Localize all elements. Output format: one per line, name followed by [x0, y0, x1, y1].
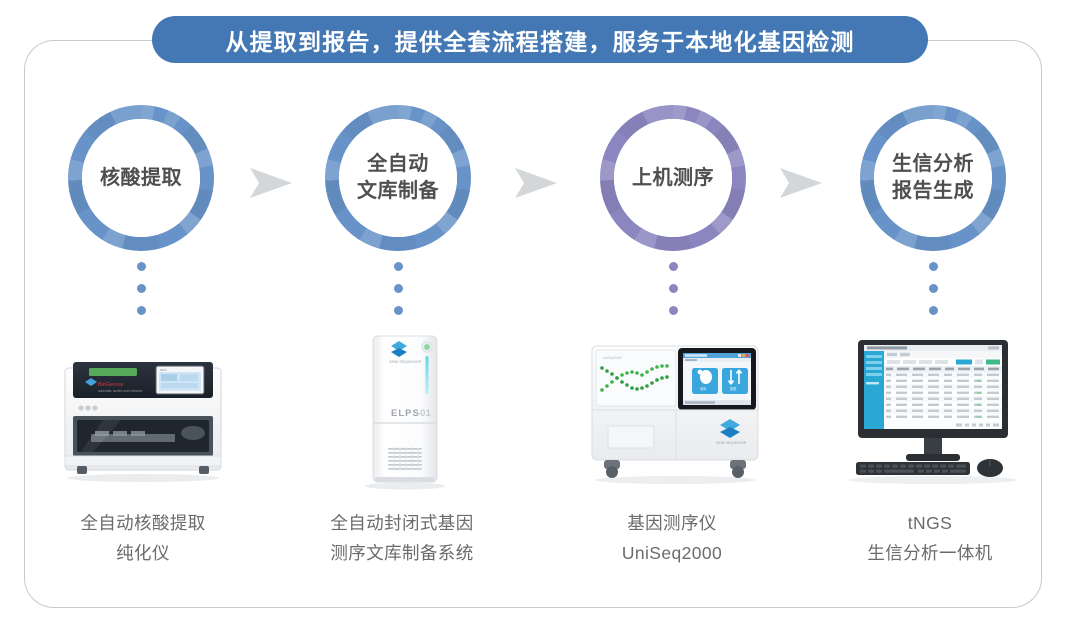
- desktop-workstation-icon: [828, 330, 1038, 490]
- svg-text:ELPS: ELPS: [391, 408, 420, 419]
- dot: [669, 306, 678, 315]
- step-circle-sequencing: 上机测序: [600, 105, 746, 251]
- connector-dots-extraction: [68, 262, 214, 315]
- step-circle-extraction: 核酸提取: [68, 105, 214, 251]
- svg-text:automatic nucleic acid extract: automatic nucleic acid extractor: [98, 389, 144, 393]
- caption-line-1: 全自动封闭式基因: [282, 508, 522, 538]
- arrow-right-icon: [778, 163, 824, 203]
- title-banner: 从提取到报告，提供全套流程搭建，服务于本地化基因检测: [152, 16, 928, 63]
- svg-text:-01: -01: [417, 408, 431, 419]
- dot: [929, 284, 938, 293]
- step-circle-label: 生信分析 报告生成: [892, 151, 974, 205]
- caption-line-1: tNGS: [810, 508, 1050, 538]
- caption-line-2: 测序文库制备系统: [282, 538, 522, 568]
- svg-text:UniSeq2000: UniSeq2000: [603, 356, 622, 360]
- arrow-right-icon: [248, 163, 294, 203]
- gene-sequencer-icon: UniSeq2000 测序: [570, 330, 780, 490]
- caption-line-2: UniSeq2000: [552, 538, 792, 568]
- step-circle-bioinformatics: 生信分析 报告生成: [860, 105, 1006, 251]
- connector-dots-bioinformatics: [860, 262, 1006, 315]
- library-prep-tower-icon: GENE SEQUENCER ELPS -01: [300, 330, 510, 490]
- arrow-right-icon: [513, 163, 559, 203]
- workflow-step-extraction: 核酸提取: [68, 105, 218, 251]
- step-circle-label: 核酸提取: [100, 165, 182, 192]
- dot: [669, 262, 678, 271]
- svg-text:BioGenius: BioGenius: [98, 382, 124, 388]
- workflow-step-sequencing: 上机测序: [600, 105, 750, 251]
- device-caption-extraction: 全自动核酸提取 纯化仪: [23, 508, 263, 568]
- step-circle-label: 全自动 文库制备: [357, 151, 439, 205]
- connector-dots-sequencing: [600, 262, 746, 315]
- caption-line-2: 纯化仪: [23, 538, 263, 568]
- svg-text:RUN: RUN: [160, 368, 167, 372]
- caption-line-1: 基因测序仪: [552, 508, 792, 538]
- svg-text:测序: 测序: [700, 386, 707, 391]
- device-caption-bioinformatics: tNGS 生信分析一体机: [810, 508, 1050, 568]
- dot: [137, 284, 146, 293]
- step-circle-library-prep: 全自动 文库制备: [325, 105, 471, 251]
- circle-line-2: 文库制备: [357, 178, 439, 205]
- svg-text:数据: 数据: [730, 386, 737, 391]
- device-caption-sequencing: 基因测序仪 UniSeq2000: [552, 508, 792, 568]
- caption-line-1: 全自动核酸提取: [23, 508, 263, 538]
- connector-dots-library-prep: [325, 262, 471, 315]
- workflow-step-library-prep: 全自动 文库制备: [325, 105, 475, 251]
- svg-text:GENE SEQUENCER: GENE SEQUENCER: [389, 360, 422, 364]
- circle-line-1: 生信分析: [892, 151, 974, 178]
- device-caption-library-prep: 全自动封闭式基因 测序文库制备系统: [282, 508, 522, 568]
- dot: [394, 262, 403, 271]
- workflow-step-bioinformatics: 生信分析 报告生成: [860, 105, 1010, 251]
- dot: [929, 262, 938, 271]
- svg-text:GENE SEQUENCER: GENE SEQUENCER: [716, 441, 747, 445]
- circle-line-1: 全自动: [357, 151, 439, 178]
- dot: [394, 306, 403, 315]
- step-circle-label: 上机测序: [632, 165, 714, 192]
- dot: [929, 306, 938, 315]
- banner-text: 从提取到报告，提供全套流程搭建，服务于本地化基因检测: [225, 23, 854, 57]
- caption-line-2: 生信分析一体机: [810, 538, 1050, 568]
- dot: [137, 306, 146, 315]
- circle-line-1: 上机测序: [632, 167, 714, 189]
- dot: [394, 284, 403, 293]
- nucleic-acid-extractor-icon: BioGenius automatic nucleic acid extract…: [38, 330, 248, 490]
- circle-line-1: 核酸提取: [100, 167, 182, 189]
- circle-line-2: 报告生成: [892, 178, 974, 205]
- dot: [669, 284, 678, 293]
- dot: [137, 262, 146, 271]
